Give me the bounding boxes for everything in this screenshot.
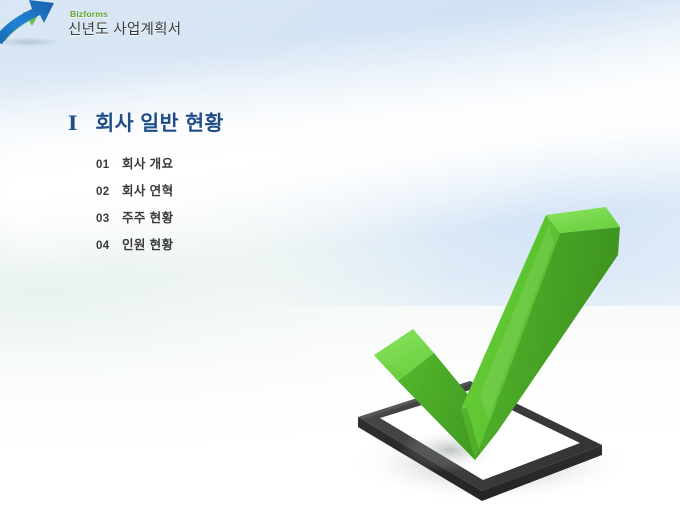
section-title: 회사 일반 현황	[95, 106, 224, 136]
document-title: 신년도 사업계획서	[68, 23, 181, 38]
agenda-item-01[interactable]: 01 회사 개요	[96, 153, 173, 172]
agenda-item-03[interactable]: 03 주주 현황	[96, 207, 173, 226]
section-numeral: Ⅰ	[68, 111, 77, 136]
presentation-slide: Bizforms 신년도 사업계획서 Ⅰ 회사 일반 현황 01 회사 개요 0…	[0, 0, 680, 510]
agenda-list: 01 회사 개요 02 회사 연혁 03 주주 현황 04 인원 현황	[96, 153, 173, 261]
agenda-item-label: 주주 현황	[122, 207, 173, 226]
background-white-fade	[0, 275, 680, 510]
brand-block: Bizforms 신년도 사업계획서	[68, 10, 181, 37]
section-heading: Ⅰ 회사 일반 현황	[68, 106, 224, 136]
agenda-item-number: 04	[96, 240, 122, 252]
agenda-item-02[interactable]: 02 회사 연혁	[96, 180, 173, 199]
brand-name: Bizforms	[70, 10, 181, 19]
agenda-item-label: 회사 개요	[122, 153, 173, 172]
agenda-item-number: 01	[96, 159, 122, 171]
bizforms-arrow-logo	[0, 0, 76, 48]
agenda-item-label: 인원 현황	[122, 234, 173, 253]
agenda-item-04[interactable]: 04 인원 현황	[96, 234, 173, 253]
agenda-item-number: 03	[96, 213, 122, 225]
agenda-item-number: 02	[96, 186, 122, 198]
agenda-item-label: 회사 연혁	[122, 180, 173, 199]
